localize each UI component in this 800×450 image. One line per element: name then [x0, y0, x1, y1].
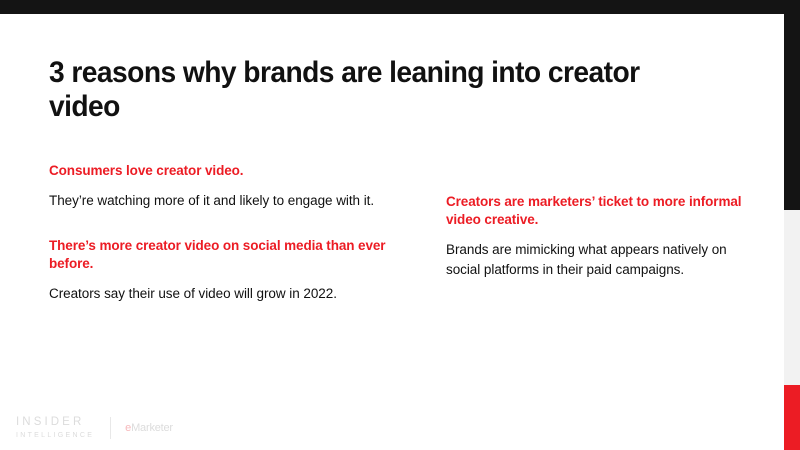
slide-content: 3 reasons why brands are leaning into cr…	[0, 14, 784, 450]
reason-body: Creators say their use of video will gro…	[49, 284, 401, 305]
insider-intelligence-logo-line1: INSIDER	[16, 417, 94, 429]
emarketer-logo: eMarketer	[125, 422, 173, 434]
edge-segment-gray	[784, 210, 800, 385]
top-black-bar	[0, 0, 800, 14]
reasons-column-left: Consumers love creator video. They’re wa…	[49, 162, 401, 305]
reason-heading: Creators are marketers’ ticket to more i…	[446, 193, 751, 229]
logo-divider	[110, 417, 111, 439]
slide-root: 3 reasons why brands are leaning into cr…	[0, 0, 800, 450]
brand-logo-lockup: INSIDER INTELLIGENCE eMarketer	[16, 414, 173, 442]
reason-item: Creators are marketers’ ticket to more i…	[446, 193, 751, 281]
insider-intelligence-logo: INSIDER INTELLIGENCE	[16, 417, 94, 439]
reason-item: There’s more creator video on social med…	[49, 237, 401, 304]
right-edge-accent-strip	[784, 14, 800, 450]
reason-body: Brands are mimicking what appears native…	[446, 240, 751, 281]
reason-item: Consumers love creator video. They’re wa…	[49, 162, 401, 211]
edge-segment-red	[784, 385, 800, 450]
reason-body: They’re watching more of it and likely t…	[49, 191, 401, 212]
page-title: 3 reasons why brands are leaning into cr…	[49, 56, 688, 124]
reason-heading: Consumers love creator video.	[49, 162, 401, 180]
reason-heading: There’s more creator video on social med…	[49, 237, 401, 273]
edge-segment-dark	[784, 14, 800, 210]
emarketer-logo-word: Marketer	[131, 422, 173, 434]
insider-intelligence-logo-line2: INTELLIGENCE	[16, 432, 94, 439]
reasons-column-right: Creators are marketers’ ticket to more i…	[446, 162, 751, 281]
